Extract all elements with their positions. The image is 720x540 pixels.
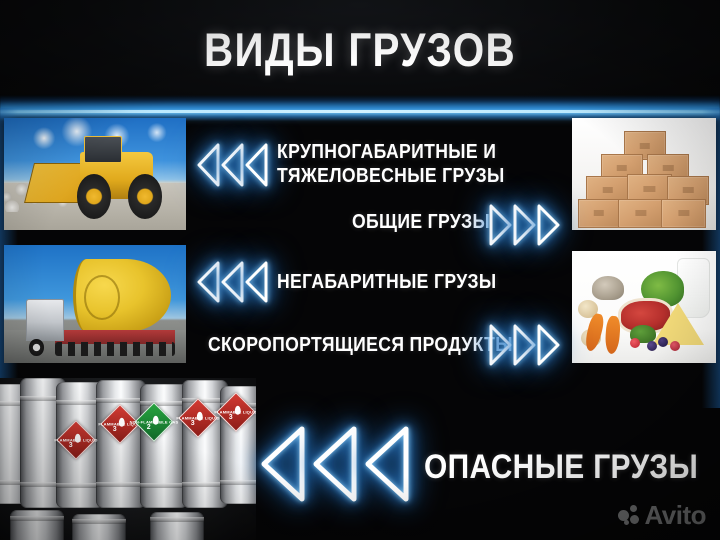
- avito-wordmark: Avito: [644, 502, 706, 528]
- label-general-cargo: ОБЩИЕ ГРУЗЫ: [352, 210, 490, 234]
- label-out-of-gauge: НЕГАБАРИТНЫЕ ГРУЗЫ: [277, 270, 496, 294]
- arrows-left-out-of-gauge: [196, 258, 270, 306]
- label-oversized-heavy: КРУПНОГАБАРИТНЫЕ И ТЯЖЕЛОВЕСНЫЕ ГРУЗЫ: [277, 140, 505, 188]
- label-dangerous-goods: ОПАСНЫЕ ГРУЗЫ: [424, 448, 698, 486]
- arrows-right-perishable: [487, 322, 561, 368]
- arrows-left-oversized-heavy: [196, 140, 270, 190]
- cardboard-boxes-photo: [572, 118, 716, 230]
- label-perishable: СКОРОПОРТЯЩИЕСЯ ПРОДУКТЫ: [208, 333, 513, 357]
- poster: ВИДЫ ГРУЗОВ: [0, 0, 720, 540]
- avito-dots-icon: [618, 505, 640, 525]
- page-title: ВИДЫ ГРУЗОВ: [50, 24, 669, 76]
- fresh-food-photo: [572, 251, 716, 363]
- arrows-right-general-cargo: [487, 202, 561, 248]
- avito-watermark: Avito: [618, 502, 706, 528]
- arrows-left-dangerous-goods: [256, 422, 408, 506]
- hazmat-barrels-photo: FLAMMABLE LIQUID 3 FLAMMABLE LIQUID 3 NO…: [0, 378, 256, 540]
- poster-header: ВИДЫ ГРУЗОВ: [0, 0, 720, 108]
- header-glow-line: [0, 110, 720, 113]
- oversized-truck-photo: [4, 245, 186, 363]
- wheel-loader-photo: [4, 118, 186, 230]
